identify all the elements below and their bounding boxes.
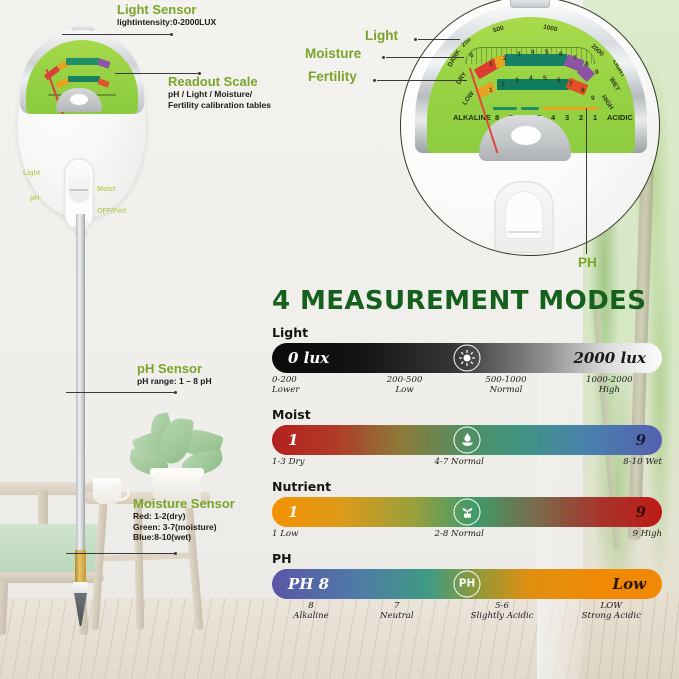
dial-label-light: Light xyxy=(365,28,398,43)
switch-label-ph: pH xyxy=(30,195,39,202)
mode-nutrient: Nutrient 1 9 1 Low 2-8 Normal 9 High xyxy=(272,479,662,540)
switch-label-light: Light xyxy=(23,170,40,177)
mode-ph: PH PH 8 PH Low 8 Alkaline 7 Neutral 5-6 … xyxy=(272,551,662,622)
scale-wet-label: WET xyxy=(608,76,621,92)
leader-dot-dial-light xyxy=(414,38,417,41)
leader-dot-ph-sensor xyxy=(174,391,177,394)
callout-readout-scale-line2: Fertility calibration tables xyxy=(168,100,271,111)
callout-moisture-sensor-title: Moisture Sensor xyxy=(133,497,235,511)
leader-line-dial-fertility xyxy=(377,80,467,81)
leader-line-readout-scale xyxy=(115,73,200,74)
mode-light-left-value: 0 lux xyxy=(288,349,329,367)
leader-dot-readout-scale xyxy=(198,72,201,75)
mode-light-right-value: 2000 lux xyxy=(573,349,646,367)
callout-light-sensor: Light Sensor lightintensity:0-2000LUX xyxy=(117,3,216,28)
callout-ph-sensor-subtitle: pH range: 1 – 8 pH xyxy=(137,376,212,387)
mode-light-ticks: 0-200 Lower 200-500 Low 500-1000 Normal … xyxy=(272,376,662,396)
infographic-root: Light pH Moist OFF/Fert DARK 200 500 100… xyxy=(0,0,679,679)
water-drop-icon xyxy=(454,426,481,453)
scale-light-tick-200: 200 xyxy=(460,36,473,48)
mode-ph-name: PH xyxy=(272,551,662,566)
callout-light-sensor-title: Light Sensor xyxy=(117,3,216,17)
mode-nutrient-ticks: 1 Low 2-8 Normal 9 High xyxy=(272,530,662,540)
leader-line-moisture-sensor xyxy=(66,553,176,554)
sprout-icon xyxy=(454,498,481,525)
dial-label-moisture: Moisture xyxy=(305,46,361,61)
scale-dry-label: DRY xyxy=(455,71,468,86)
probe-stem xyxy=(76,214,85,584)
leader-dot-dial-moisture xyxy=(382,56,385,59)
device-head-detail: DARK 200 500 1000 2000 LIGHT 0 DRY WET xyxy=(400,0,679,296)
probe-gold-band xyxy=(75,550,86,584)
probe-tip xyxy=(74,593,87,626)
leader-line-dial-moisture xyxy=(386,57,464,58)
mode-light-bar[interactable]: 0 lux 2000 lux xyxy=(272,343,662,373)
callout-moisture-sensor-line2: Green: 3-7(moisture) xyxy=(133,522,235,533)
mode-moist-ticks: 1-3 Dry 4-7 Normal 8-10 Wet xyxy=(272,458,662,468)
leader-line-dial-light xyxy=(418,39,460,40)
head-light-sensor-window xyxy=(510,0,550,8)
mode-ph-bar[interactable]: PH 8 PH Low xyxy=(272,569,662,599)
leader-line-ph-sensor xyxy=(66,392,176,393)
sun-icon xyxy=(454,345,481,372)
scale-dark-label: DARK xyxy=(447,49,462,69)
mode-light-name: Light xyxy=(272,325,662,340)
mode-moist-right-value: 9 xyxy=(636,431,646,449)
scale-high-label: HIGH xyxy=(600,94,615,111)
mode-moist-name: Moist xyxy=(272,407,662,422)
leader-dot-moisture-sensor xyxy=(174,552,177,555)
mode-light: Light 0 lux 2000 lux 0-200 Lower 200-500… xyxy=(272,325,662,396)
mode-nutrient-name: Nutrient xyxy=(272,479,662,494)
leader-line-light-sensor xyxy=(62,34,172,35)
callout-light-sensor-subtitle: lightintensity:0-2000LUX xyxy=(117,17,216,28)
mode-moist: Moist 1 9 1-3 Dry 4-7 Normal 8-10 Wet xyxy=(272,407,662,468)
mode-ph-ticks: 8 Alkaline 7 Neutral 5-6 Slightly Acidic… xyxy=(272,602,662,622)
ph-icon: PH xyxy=(454,570,481,597)
scale-light-tick-500: 500 xyxy=(492,25,504,35)
switch-label-moist: Moist xyxy=(97,186,115,193)
mode-nutrient-left-value: 1 xyxy=(288,503,298,521)
mode-moist-bar[interactable]: 1 9 xyxy=(272,425,662,455)
mode-nutrient-bar[interactable]: 1 9 xyxy=(272,497,662,527)
scale-light-tick-1000: 1000 xyxy=(542,24,558,34)
switch-knob[interactable] xyxy=(69,165,89,201)
scale-acidic-label: ACIDIC xyxy=(607,113,633,122)
soil-meter-device: Light pH Moist OFF/Fert xyxy=(18,18,148,638)
leader-line-dial-ph xyxy=(586,108,587,254)
callout-readout-scale: Readout Scale pH / Light / Moisture/ Fer… xyxy=(168,75,271,110)
switch-label-off-fert: OFF/Fert xyxy=(97,208,126,215)
callout-moisture-sensor: Moisture Sensor Red: 1-2(dry) Green: 3-7… xyxy=(133,497,235,543)
callout-ph-sensor: pH Sensor pH range: 1 – 8 pH xyxy=(137,362,212,387)
callout-moisture-sensor-line1: Red: 1-2(dry) xyxy=(133,511,235,522)
mode-moist-left-value: 1 xyxy=(288,431,298,449)
probe-tip-ring xyxy=(73,582,88,594)
head-button[interactable] xyxy=(494,181,554,253)
modes-title: 4 MEASUREMENT MODES xyxy=(272,288,662,314)
callout-readout-scale-title: Readout Scale xyxy=(168,75,271,89)
measurement-modes-panel: 4 MEASUREMENT MODES Light 0 lux 2000 lux… xyxy=(272,288,662,622)
mode-ph-right-value: Low xyxy=(613,575,646,593)
dial-label-ph: PH xyxy=(578,255,597,270)
mode-nutrient-right-value: 9 xyxy=(636,503,646,521)
leader-dot-light-sensor xyxy=(170,33,173,36)
scale-low-label: LOW xyxy=(461,90,476,106)
callout-readout-scale-line1: pH / Light / Moisture/ xyxy=(168,89,271,100)
callout-moisture-sensor-line3: Blue:8-10(wet) xyxy=(133,532,235,543)
leader-dot-dial-fertility xyxy=(373,79,376,82)
dial-label-fertility: Fertility xyxy=(308,69,357,84)
callout-ph-sensor-title: pH Sensor xyxy=(137,362,212,376)
mode-ph-left-value: PH 8 xyxy=(288,575,329,593)
